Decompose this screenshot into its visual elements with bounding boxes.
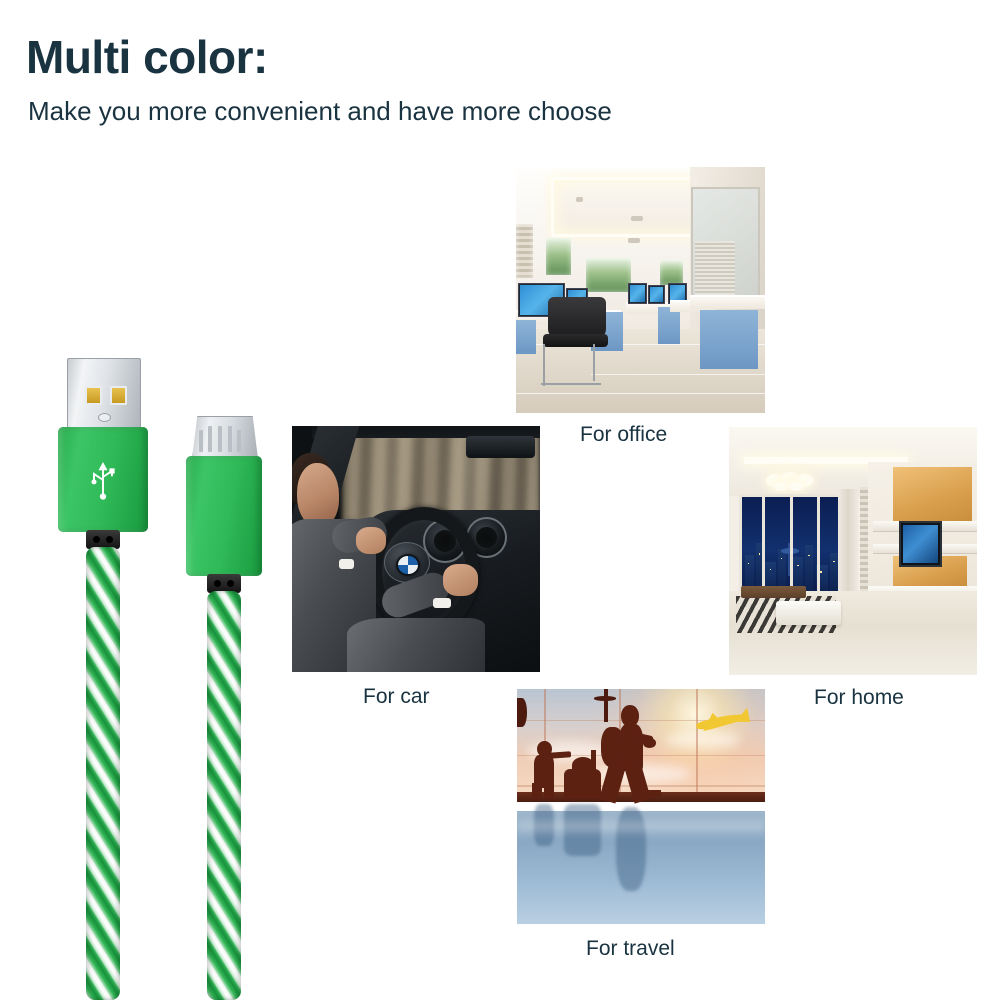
usb-trident-icon bbox=[88, 454, 118, 506]
braided-cord-usb-a bbox=[86, 547, 120, 1000]
car-scene bbox=[292, 426, 540, 672]
usecase-photo-home bbox=[729, 427, 977, 675]
page-subtitle: Make you more convenient and have more c… bbox=[28, 98, 612, 124]
product-marketing-image: Multi color: Make you more convenient an… bbox=[0, 0, 1000, 1000]
caption-car: For car bbox=[363, 685, 430, 709]
travel-scene bbox=[517, 689, 765, 924]
page-title: Multi color: bbox=[26, 34, 268, 80]
usecase-photo-office bbox=[516, 167, 765, 413]
usb-a-vent-hole bbox=[98, 413, 111, 422]
usecase-photo-travel bbox=[517, 689, 765, 924]
home-scene bbox=[729, 427, 977, 675]
office-scene bbox=[516, 167, 765, 413]
usecase-photo-car bbox=[292, 426, 540, 672]
usb-a-contact-left bbox=[85, 386, 102, 405]
caption-office: For office bbox=[580, 423, 667, 447]
caption-travel: For travel bbox=[586, 937, 675, 961]
micro-usb-cable bbox=[186, 416, 262, 1000]
usb-a-cable bbox=[58, 358, 148, 1000]
usb-a-contact-right bbox=[110, 386, 127, 405]
braided-cord-micro-usb bbox=[207, 591, 241, 1000]
caption-home: For home bbox=[814, 686, 904, 710]
micro-usb-housing bbox=[186, 456, 262, 576]
